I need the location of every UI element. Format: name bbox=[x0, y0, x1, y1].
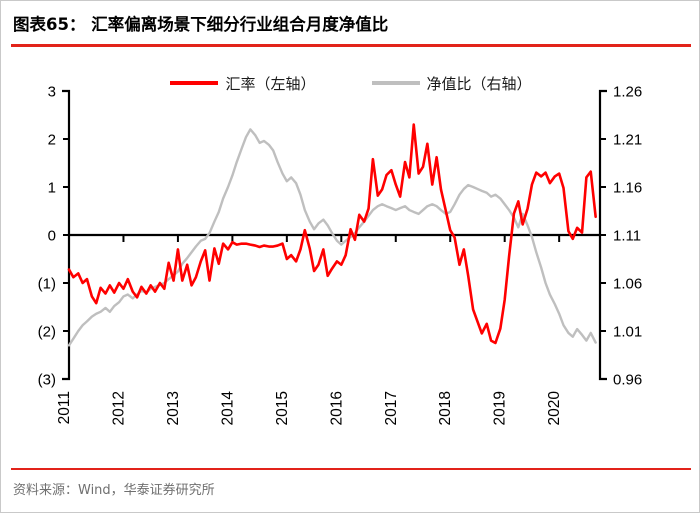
right-tick-label: 1.11 bbox=[613, 228, 641, 245]
left-tick-label: (3) bbox=[38, 372, 56, 389]
right-tick-label: 1.01 bbox=[613, 324, 642, 341]
right-tick-label: 1.06 bbox=[613, 276, 642, 293]
right-tick-label: 1.16 bbox=[613, 180, 642, 197]
x-tick-label: 2019 bbox=[492, 391, 509, 425]
left-tick-label: (1) bbox=[38, 276, 56, 293]
x-tick-label: 2020 bbox=[546, 391, 563, 426]
source-note: 资料来源：Wind，华泰证券研究所 bbox=[13, 479, 215, 498]
right-axis-tick-labels: 1.261.211.161.111.061.010.96 bbox=[613, 84, 642, 389]
x-tick-label: 2013 bbox=[165, 391, 182, 425]
x-tick-label: 2014 bbox=[219, 391, 236, 426]
footer-divider bbox=[11, 468, 691, 471]
chart-canvas: 3210(1)(2)(3) 1.261.211.161.111.061.010.… bbox=[1, 1, 700, 514]
x-tick-label: 2011 bbox=[56, 391, 73, 424]
series-line-nav bbox=[69, 129, 596, 345]
x-tick-label: 2017 bbox=[383, 391, 400, 425]
right-tick-label: 1.21 bbox=[613, 132, 642, 149]
right-tick-label: 1.26 bbox=[613, 84, 642, 101]
left-tick-label: 1 bbox=[48, 180, 56, 197]
x-tick-label: 2012 bbox=[110, 391, 127, 425]
right-tick-label: 0.96 bbox=[613, 372, 642, 389]
x-tick-label: 2015 bbox=[274, 391, 291, 425]
x-tick-label: 2018 bbox=[437, 391, 454, 425]
left-tick-label: 0 bbox=[48, 228, 56, 245]
plot-area: 3210(1)(2)(3) 1.261.211.161.111.061.010.… bbox=[1, 1, 700, 514]
left-tick-label: (2) bbox=[38, 324, 56, 341]
left-tick-label: 2 bbox=[48, 132, 56, 149]
left-axis-tick-labels: 3210(1)(2)(3) bbox=[38, 84, 56, 389]
x-axis-tick-labels: 2011201220132014201520162017201820192020 bbox=[56, 391, 563, 426]
figure-panel: 图表65： 汇率偏离场景下细分行业组合月度净值比 汇率（左轴） 净值比（右轴） … bbox=[0, 0, 700, 513]
x-tick-label: 2016 bbox=[328, 391, 345, 425]
left-tick-label: 3 bbox=[48, 84, 56, 101]
